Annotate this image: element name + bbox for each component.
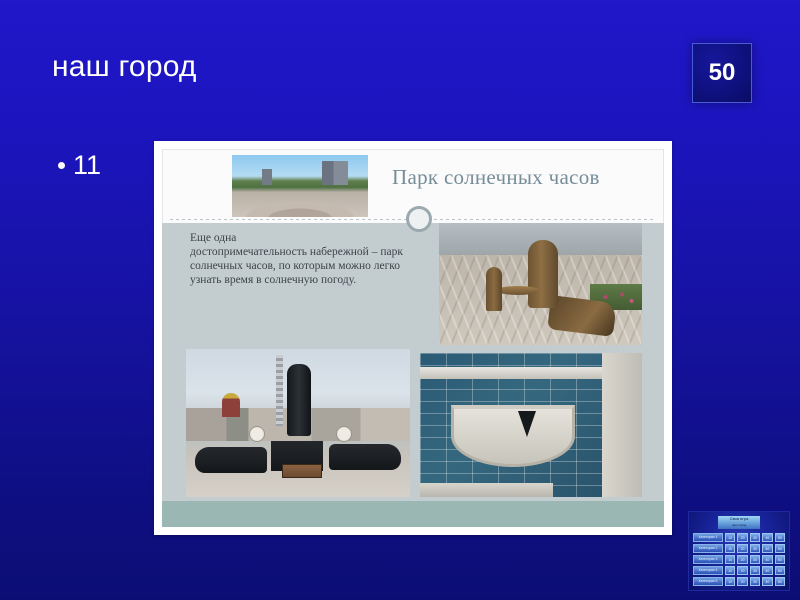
board-value-cell[interactable]: 20 bbox=[737, 533, 747, 542]
park-sundial-plaza-photo bbox=[232, 155, 368, 217]
board-value-cell[interactable]: 40 bbox=[762, 566, 772, 575]
board-category-cell[interactable]: Категория 1 bbox=[693, 533, 723, 542]
board-value-cell[interactable]: 20 bbox=[737, 544, 747, 553]
board-category-cell[interactable]: Категория 5 bbox=[693, 577, 723, 586]
board-value-cell[interactable]: 30 bbox=[750, 544, 760, 553]
board-value-cell[interactable]: 10 bbox=[725, 533, 735, 542]
left-clock-dial-icon bbox=[249, 426, 265, 442]
board-value-cell[interactable]: 30 bbox=[750, 566, 760, 575]
page-title: наш город bbox=[52, 50, 197, 84]
board-title-line1: Своя игра bbox=[730, 516, 749, 521]
board-value-cell[interactable]: 20 bbox=[737, 555, 747, 564]
wall-sundial-photo bbox=[420, 353, 642, 497]
board-value-cell[interactable]: 10 bbox=[725, 566, 735, 575]
board-value-cell[interactable]: 30 bbox=[750, 555, 760, 564]
slide-footer-band bbox=[162, 501, 664, 527]
board-grid: Категория 11020304050Категория 210203040… bbox=[693, 533, 785, 586]
sundial-gnomon-icon bbox=[518, 411, 536, 437]
board-value-cell[interactable]: 10 bbox=[725, 544, 735, 553]
slide-image-frame[interactable]: Парк солнечных часов Еще одна достоприме… bbox=[154, 141, 672, 535]
bronze-child-figure bbox=[486, 267, 502, 311]
statue-plaque bbox=[282, 464, 322, 478]
board-value-cell[interactable]: 10 bbox=[725, 577, 735, 586]
board-value-cell[interactable]: 20 bbox=[737, 566, 747, 575]
game-board-thumbnail[interactable]: Своя игра наш город Категория 1102030405… bbox=[688, 511, 790, 591]
bronze-family-sculpture-photo bbox=[439, 223, 642, 345]
board-value-cell[interactable]: 40 bbox=[762, 555, 772, 564]
right-bench bbox=[329, 444, 401, 470]
board-value-cell[interactable]: 50 bbox=[775, 555, 785, 564]
right-clock-dial-icon bbox=[336, 426, 352, 442]
stone-pillar bbox=[602, 353, 642, 497]
board-title-line2: наш город bbox=[718, 522, 760, 528]
church-dome bbox=[222, 393, 240, 417]
board-value-cell[interactable]: 40 bbox=[762, 577, 772, 586]
board-category-cell[interactable]: Категория 2 bbox=[693, 544, 723, 553]
sundial-face bbox=[451, 405, 575, 467]
board-value-cell[interactable]: 50 bbox=[775, 577, 785, 586]
divider-circle-icon bbox=[406, 206, 432, 232]
left-bench bbox=[195, 447, 267, 473]
upper-stone-ledge bbox=[420, 367, 602, 379]
board-value-cell[interactable]: 50 bbox=[775, 533, 785, 542]
bronze-seated-figure bbox=[528, 240, 558, 308]
board-value-cell[interactable]: 10 bbox=[725, 555, 735, 564]
slide-heading: Парк солнечных часов bbox=[392, 165, 600, 190]
bullet-list-item: 11 bbox=[58, 152, 101, 179]
score-badge[interactable]: 50 bbox=[692, 43, 752, 103]
board-value-cell[interactable]: 50 bbox=[775, 544, 785, 553]
lower-stone-ledge bbox=[420, 483, 553, 497]
clock-statue-photo bbox=[186, 349, 410, 497]
board-category-cell[interactable]: Категория 3 bbox=[693, 555, 723, 564]
tower-structure bbox=[276, 355, 283, 426]
board-value-cell[interactable]: 50 bbox=[775, 566, 785, 575]
bullet-item-label: 11 bbox=[73, 152, 101, 179]
board-value-cell[interactable]: 40 bbox=[762, 544, 772, 553]
board-value-cell[interactable]: 40 bbox=[762, 533, 772, 542]
clock-figure-statue bbox=[287, 364, 311, 436]
board-value-cell[interactable]: 20 bbox=[737, 577, 747, 586]
board-value-cell[interactable]: 30 bbox=[750, 533, 760, 542]
board-thumbnail-title: Своя игра наш город bbox=[718, 516, 760, 529]
bullet-dot-icon bbox=[58, 162, 65, 169]
board-value-cell[interactable]: 30 bbox=[750, 577, 760, 586]
slide-body-text: Еще одна достопримечательность набережно… bbox=[190, 231, 418, 287]
board-category-cell[interactable]: Категория 4 bbox=[693, 566, 723, 575]
slide-content: Парк солнечных часов Еще одна достоприме… bbox=[162, 149, 664, 527]
